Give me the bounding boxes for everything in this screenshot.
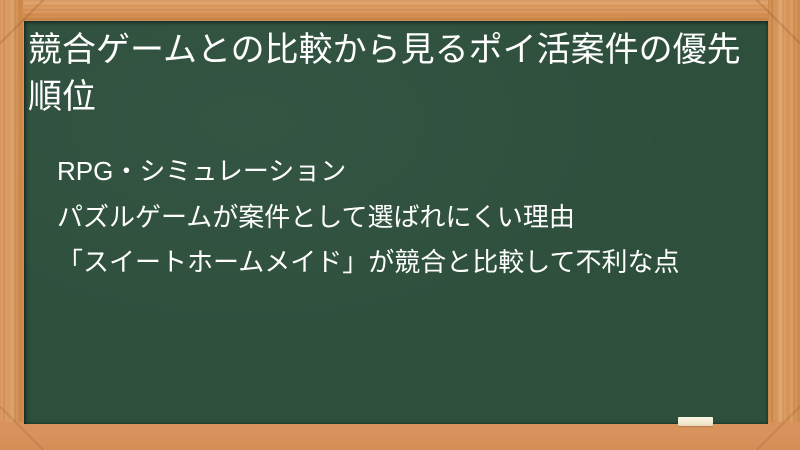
frame-left-rail xyxy=(0,0,23,450)
frame-bottom-ledge xyxy=(0,422,800,450)
frame-right-rail xyxy=(768,0,800,450)
chalkboard-slide: 競合ゲームとの比較から見るポイ活案件の優先順位 RPG・シミュレーション パズル… xyxy=(0,0,800,450)
list-item: パズルゲームが案件として選ばれにくい理由 xyxy=(28,194,758,240)
chalkboard-surface: 競合ゲームとの比較から見るポイ活案件の優先順位 RPG・シミュレーション パズル… xyxy=(24,21,768,424)
slide-title: 競合ゲームとの比較から見るポイ活案件の優先順位 xyxy=(28,27,752,121)
list-item: RPG・シミュレーション xyxy=(28,148,758,194)
bullet-list: RPG・シミュレーション パズルゲームが案件として選ばれにくい理由 「スイートホ… xyxy=(28,148,758,284)
list-item: 「スイートホームメイド」が競合と比較して不利な点 xyxy=(28,240,758,284)
chalk-stick-icon xyxy=(678,417,713,426)
frame-top-rail xyxy=(0,0,800,22)
